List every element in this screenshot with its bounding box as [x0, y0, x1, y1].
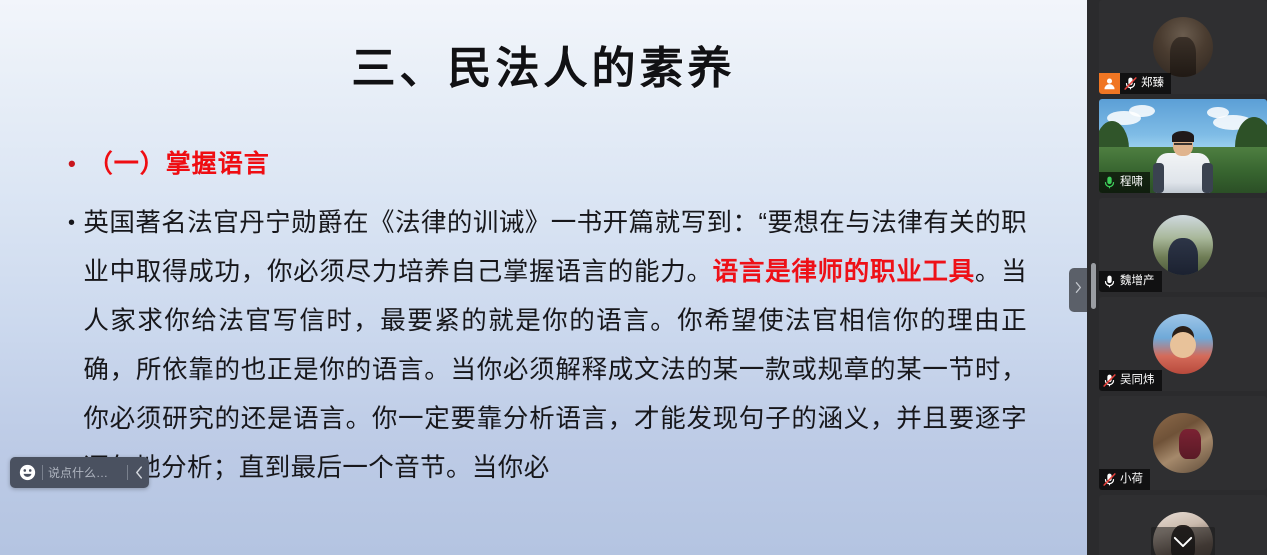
- mic-muted-icon[interactable]: [1099, 370, 1119, 391]
- smiley-face-icon[interactable]: [14, 460, 40, 486]
- participant-tile[interactable]: 魏增产: [1099, 198, 1267, 292]
- participant-name: 程啸: [1119, 172, 1143, 193]
- slide-subheading-row: • （一）掌握语言: [68, 152, 1027, 177]
- participant-nameplate: 程啸: [1099, 172, 1150, 193]
- participant-nameplate: 郑臻: [1099, 73, 1171, 94]
- participant-tile[interactable]: 小荷: [1099, 396, 1267, 490]
- chat-input-bar[interactable]: 说点什么…: [10, 457, 149, 488]
- chevron-left-icon[interactable]: [131, 460, 147, 486]
- avatar: [1153, 17, 1213, 77]
- mic-icon[interactable]: [1099, 271, 1119, 292]
- participant-tile[interactable]: [1099, 495, 1267, 555]
- paragraph-segment-2: 。当人家求你给法官写信时，最要紧的就是你的语言。你希望使法官相信你的理由正确，所…: [83, 258, 1027, 482]
- chat-input-placeholder[interactable]: 说点什么…: [48, 464, 124, 481]
- participant-name: 小荷: [1119, 469, 1143, 490]
- chat-divider-2: [127, 465, 128, 480]
- chat-divider: [42, 465, 43, 480]
- host-badge-icon: [1099, 73, 1120, 94]
- participant-rail-scrollbar-thumb[interactable]: [1091, 263, 1096, 309]
- participant-name: 郑臻: [1140, 73, 1164, 94]
- participant-name: 魏增产: [1119, 271, 1155, 292]
- shared-slide-area[interactable]: 三、民法人的素养 • （一）掌握语言 • 英国著名法官丹宁勋爵在《法律的训诫》一…: [0, 0, 1087, 555]
- participant-panel-toggle[interactable]: [1069, 268, 1087, 312]
- participant-nameplate: 小荷: [1099, 469, 1150, 490]
- avatar: [1153, 413, 1213, 473]
- participant-rail[interactable]: 郑臻 程啸 魏增产 吴同炜: [1087, 0, 1267, 555]
- avatar: [1153, 215, 1213, 275]
- participant-nameplate: 魏增产: [1099, 271, 1162, 292]
- participant-name: 吴同炜: [1119, 370, 1155, 391]
- slide-body: • （一）掌握语言 • 英国著名法官丹宁勋爵在《法律的训诫》一书开篇就写到：“要…: [68, 152, 1027, 493]
- bullet-glyph-subheading: •: [68, 152, 76, 176]
- participant-nameplate: 吴同炜: [1099, 370, 1162, 391]
- chevron-down-icon[interactable]: [1151, 527, 1215, 555]
- participant-tile[interactable]: 吴同炜: [1099, 297, 1267, 391]
- participant-tile-list: 郑臻 程啸 魏增产 吴同炜: [1099, 0, 1267, 555]
- bullet-glyph-paragraph: •: [68, 199, 75, 248]
- mic-muted-icon[interactable]: [1099, 469, 1119, 490]
- meeting-screen-share-window: 三、民法人的素养 • （一）掌握语言 • 英国著名法官丹宁勋爵在《法律的训诫》一…: [0, 0, 1267, 555]
- paragraph-highlight: 语言是律师的职业工具: [713, 258, 975, 286]
- chevron-right-icon: [1074, 281, 1082, 299]
- avatar: [1153, 314, 1213, 374]
- participant-tile[interactable]: 郑臻: [1099, 0, 1267, 94]
- participant-tile[interactable]: 程啸: [1099, 99, 1267, 193]
- slide-paragraph-row: • 英国著名法官丹宁勋爵在《法律的训诫》一书开篇就写到：“要想在与法律有关的职业…: [68, 199, 1027, 493]
- slide-title: 三、民法人的素养: [0, 32, 1087, 96]
- mic-muted-icon[interactable]: [1120, 73, 1140, 94]
- slide-paragraph: 英国著名法官丹宁勋爵在《法律的训诫》一书开篇就写到：“要想在与法律有关的职业中取…: [83, 199, 1027, 493]
- mic-icon[interactable]: [1099, 172, 1119, 193]
- slide-subheading: （一）掌握语言: [88, 152, 270, 177]
